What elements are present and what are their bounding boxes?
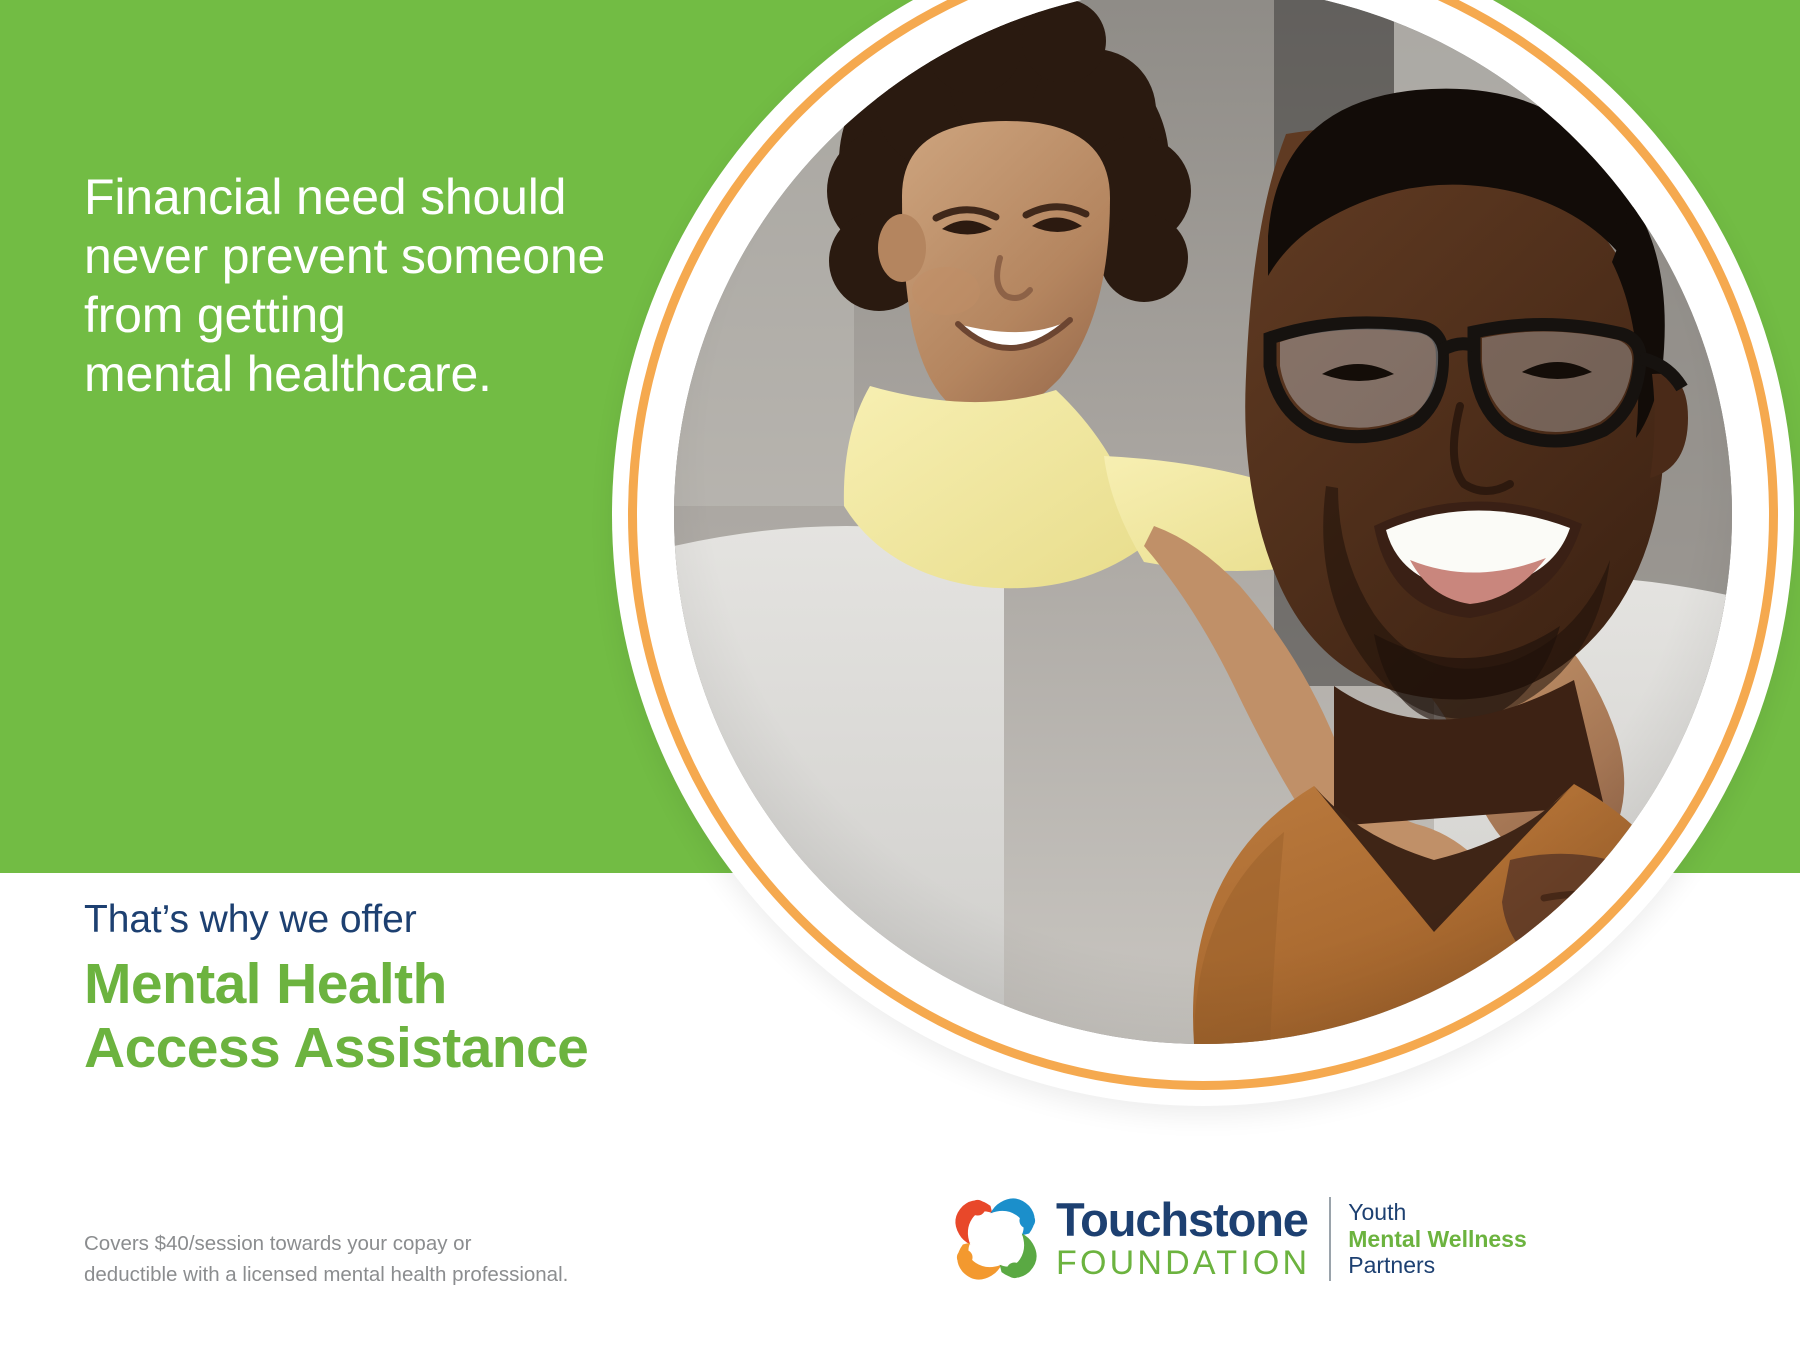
- fineprint-line-2: deductible with a licensed mental health…: [84, 1259, 568, 1290]
- partner-line-3: Partners: [1348, 1252, 1527, 1279]
- offer-title: Mental Health Access Assistance: [84, 953, 588, 1081]
- fineprint-line-1: Covers $40/session towards your copay or: [84, 1228, 568, 1259]
- offer-title-line-2: Access Assistance: [84, 1017, 588, 1081]
- headline-line-4: mental healthcare.: [84, 345, 605, 404]
- headline-line-1: Financial need should: [84, 168, 605, 227]
- offer-title-line-1: Mental Health: [84, 953, 588, 1017]
- offer-block: That’s why we offer Mental Health Access…: [84, 900, 588, 1081]
- headline-line-3: from getting: [84, 286, 605, 345]
- offer-kicker: That’s why we offer: [84, 900, 588, 941]
- circular-photo-assembly: [628, 0, 1778, 1090]
- poster-canvas: Financial need should never prevent some…: [0, 0, 1800, 1350]
- logo-wordmark-primary: Touchstone: [1056, 1197, 1310, 1243]
- logo-wordmark-secondary: FOUNDATION: [1056, 1245, 1310, 1281]
- headline-line-2: never prevent someone: [84, 227, 605, 286]
- logo-lockup: Touchstone FOUNDATION Youth Mental Welln…: [950, 1193, 1527, 1285]
- partner-line-2: Mental Wellness: [1348, 1226, 1527, 1253]
- partner-lockup: Youth Mental Wellness Partners: [1348, 1199, 1527, 1279]
- logo-wordmark: Touchstone FOUNDATION: [1056, 1197, 1310, 1281]
- headline: Financial need should never prevent some…: [84, 168, 605, 404]
- family-photo: [674, 0, 1732, 1044]
- fineprint: Covers $40/session towards your copay or…: [84, 1228, 568, 1290]
- logo-divider: [1329, 1197, 1331, 1281]
- partner-line-1: Youth: [1348, 1199, 1527, 1226]
- touchstone-people-mark-icon: [950, 1193, 1042, 1285]
